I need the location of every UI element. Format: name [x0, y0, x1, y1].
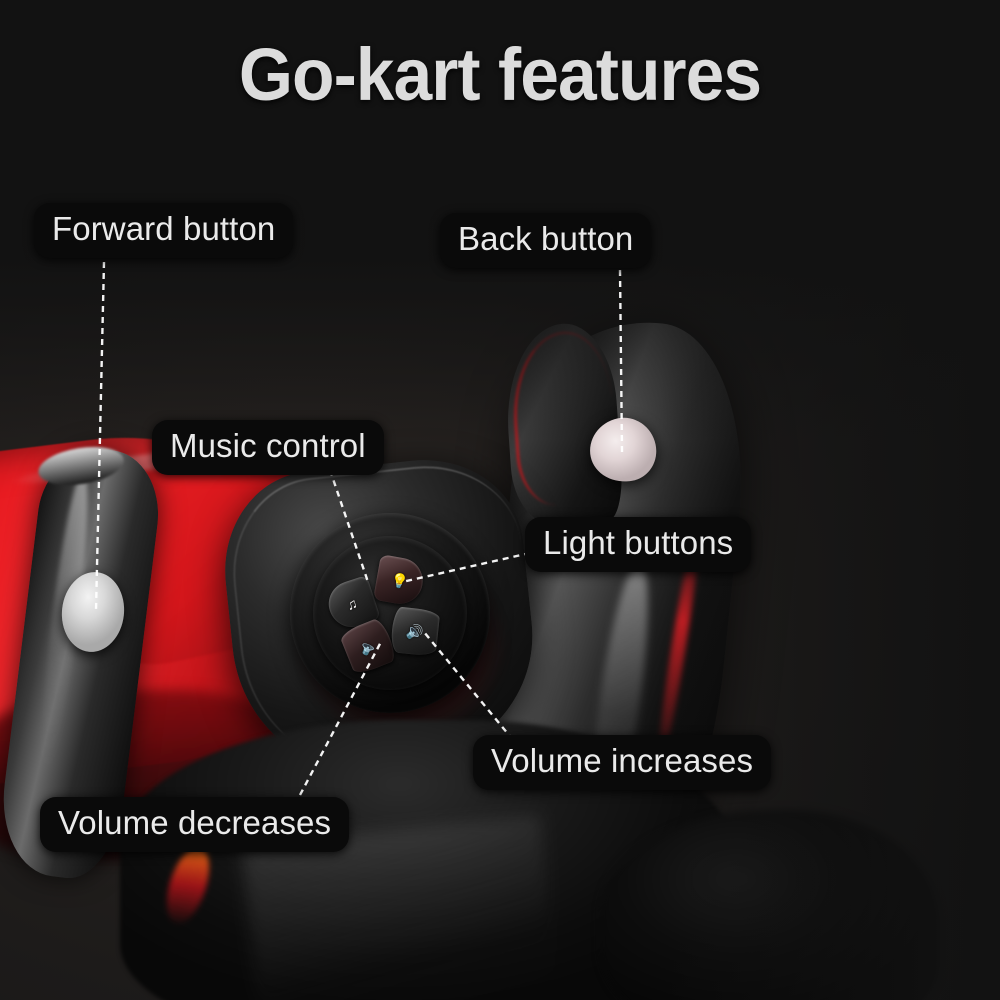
callout-forward-button-label: Forward button — [52, 210, 275, 247]
page-title: Go-kart features — [30, 32, 970, 117]
headlight-icon: 💡 — [390, 572, 410, 589]
callout-forward-button[interactable]: Forward button — [34, 203, 293, 258]
callout-volume-decreases-label: Volume decreases — [58, 804, 331, 841]
callout-volume-decreases[interactable]: Volume decreases — [40, 797, 349, 852]
callout-music-control-label: Music control — [170, 427, 366, 464]
volume-increase-key[interactable]: 🔊 — [390, 606, 441, 657]
hub-keypad: ♫ 💡 🔈 🔊 — [322, 545, 458, 681]
callout-back-button-label: Back button — [458, 220, 633, 257]
callout-music-control[interactable]: Music control — [152, 420, 384, 475]
volume-up-icon: 🔊 — [406, 624, 425, 640]
volume-down-icon: 🔈 — [358, 637, 379, 657]
callout-volume-increases-label: Volume increases — [491, 742, 753, 779]
callout-back-button[interactable]: Back button — [440, 213, 651, 268]
callout-volume-increases[interactable]: Volume increases — [473, 735, 771, 790]
light-buttons-key[interactable]: 💡 — [373, 554, 426, 607]
callout-light-buttons[interactable]: Light buttons — [525, 517, 751, 572]
callout-light-buttons-label: Light buttons — [543, 524, 733, 561]
product-feature-diagram: ♫ 💡 🔈 🔊 — [0, 0, 1000, 1000]
music-note-icon: ♫ — [345, 596, 359, 613]
